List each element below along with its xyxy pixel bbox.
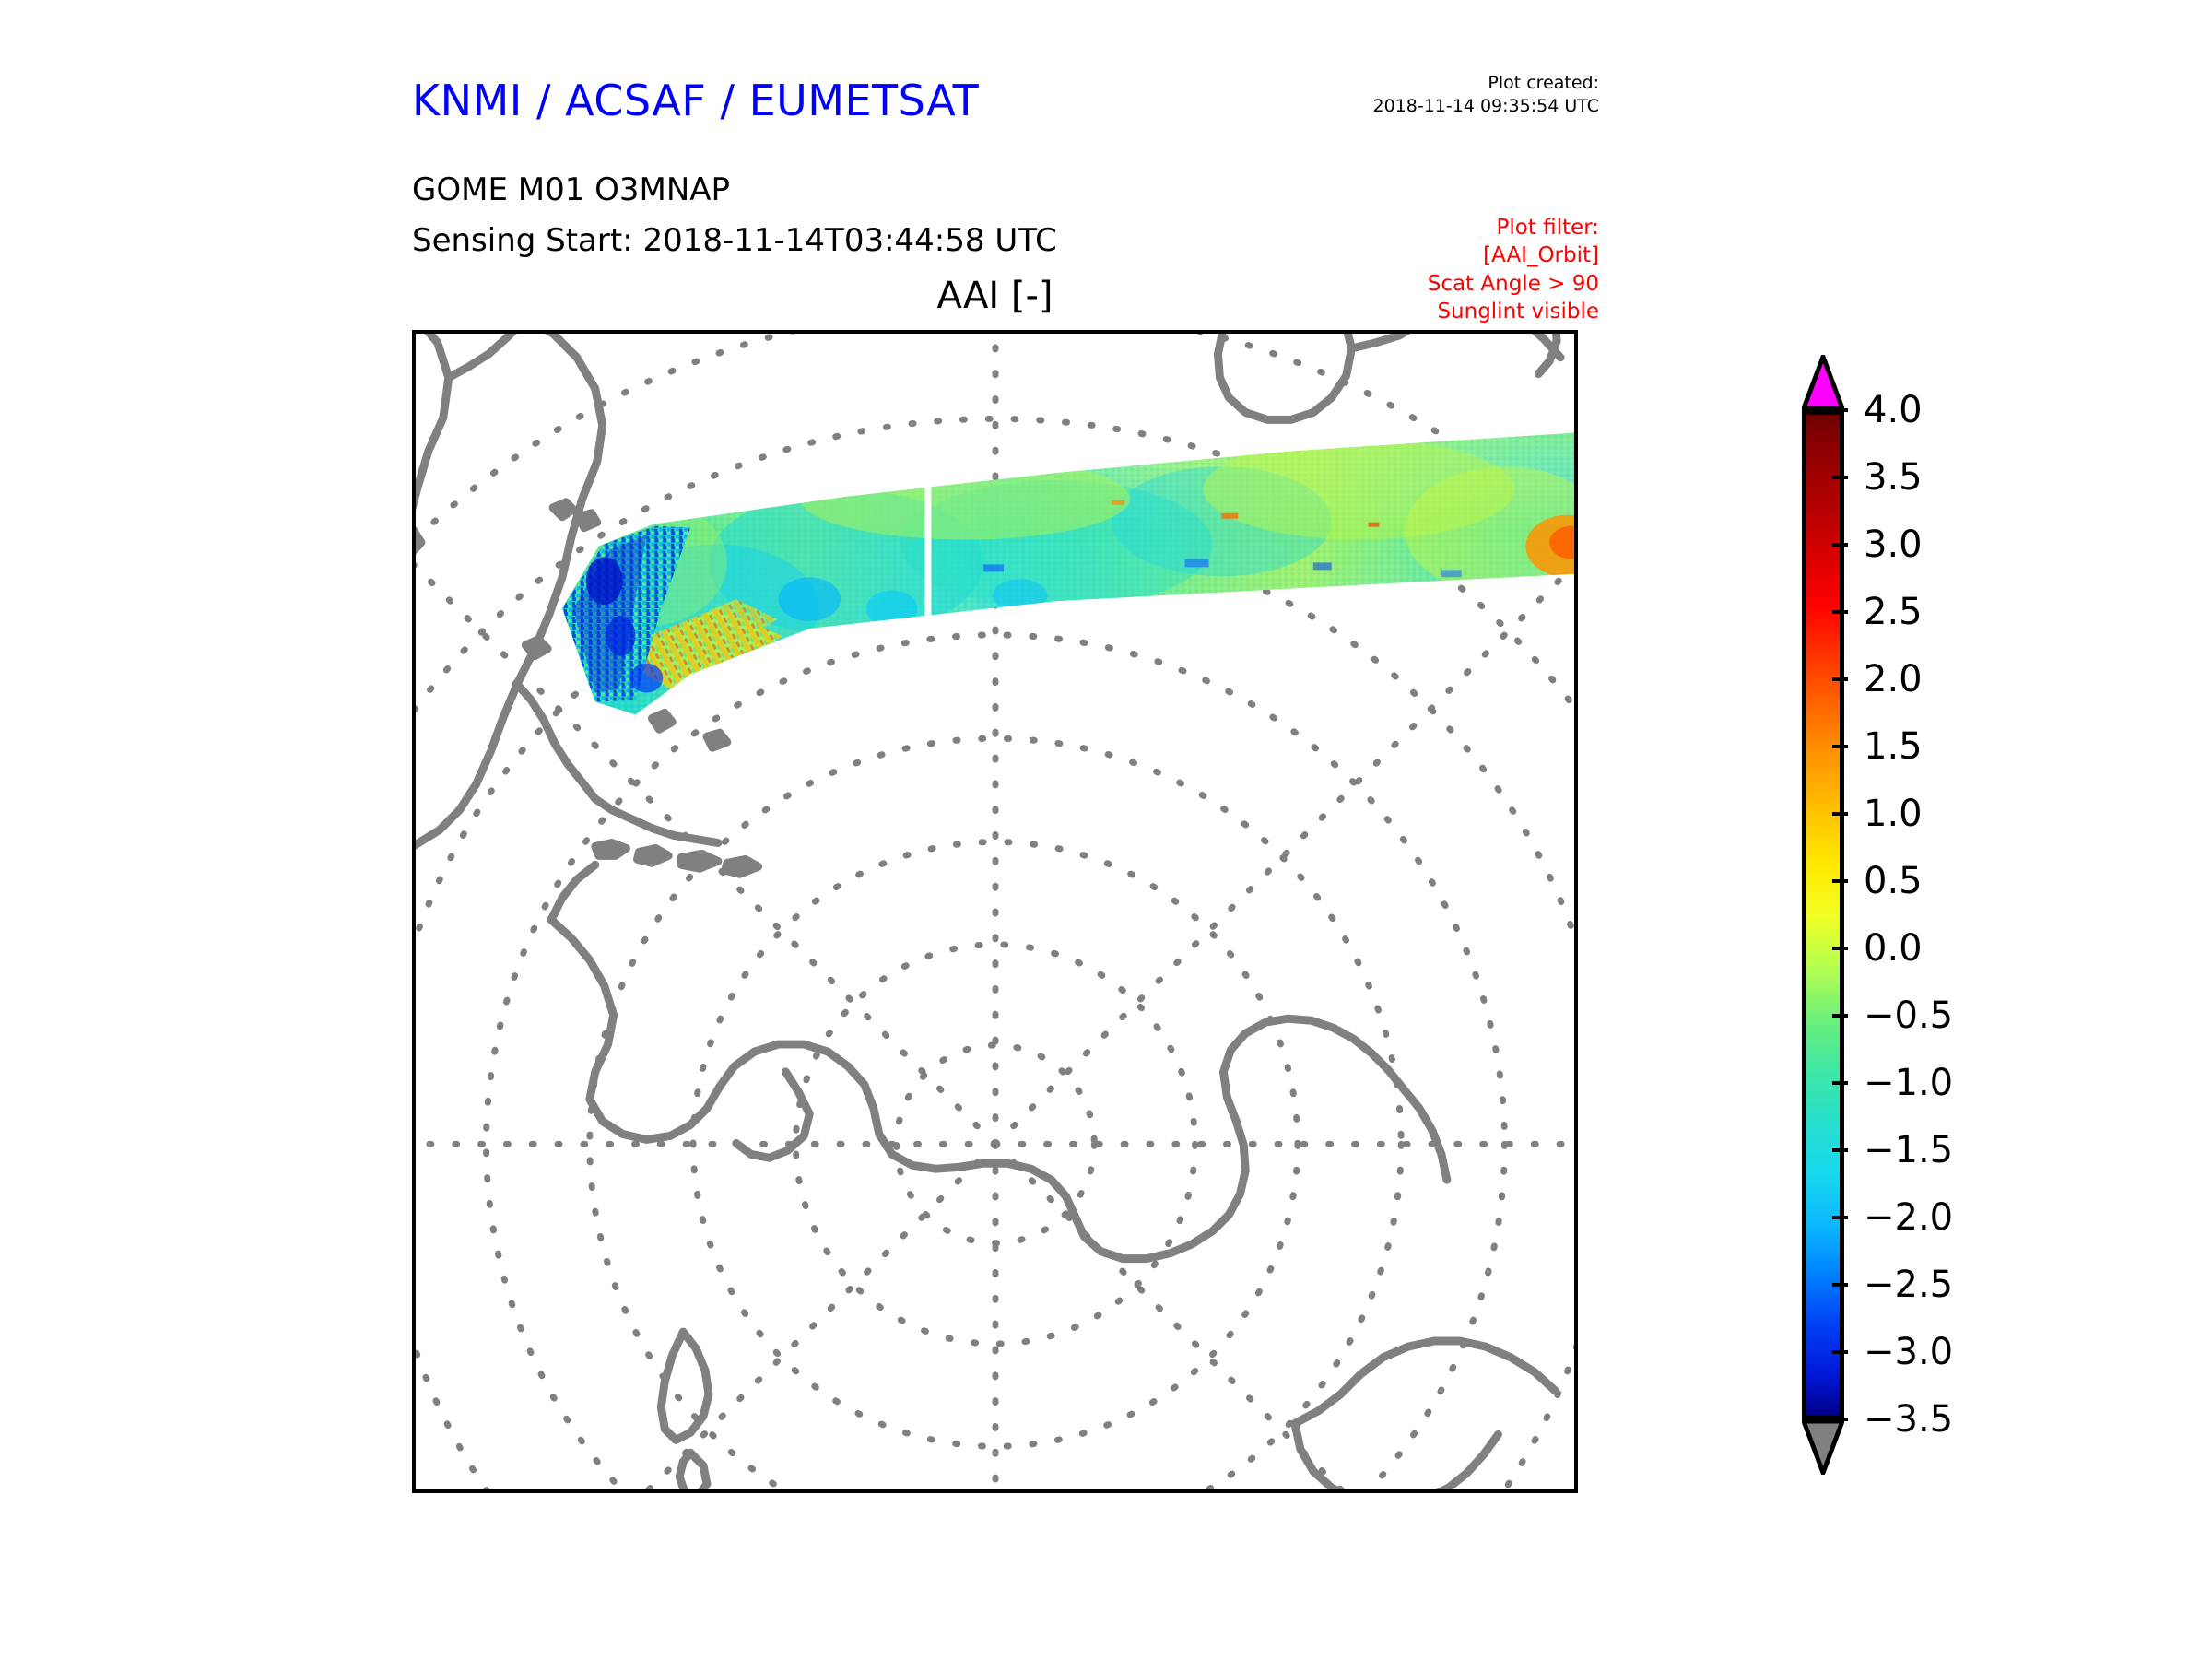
colorbar-tick-mark [1832,812,1848,816]
colorbar-tick-label: 1.5 [1864,728,1923,765]
colorbar-tick-label: −2.0 [1864,1199,1953,1236]
organisation-title: KNMI / ACSAF / EUMETSAT [412,76,979,125]
colorbar[interactable]: 4.03.53.02.52.01.51.00.50.0−0.5−1.0−1.5−… [1797,355,2184,1475]
colorbar-tick-label: 2.0 [1864,661,1923,698]
colorbar-tick-mark [1832,1283,1848,1287]
plot-created-label: Plot created: [1295,72,1599,95]
coastline-south-america-north [416,334,449,523]
colorbar-tick-mark [1832,1014,1848,1018]
swath-data-gap [924,443,931,718]
map-panel[interactable] [412,330,1578,1493]
colorbar-tick-mark [1832,1350,1848,1354]
polar-stereographic-map [416,334,1574,1489]
colorbar-tick-mark [1832,610,1848,614]
colorbar-tick-label: −3.0 [1864,1334,1953,1371]
colorbar-tick-mark [1832,1216,1848,1219]
colorbar-tick-mark [1832,677,1848,681]
colorbar-tick-mark [1832,1148,1848,1152]
colorbar-tick-label: −1.0 [1864,1065,1953,1101]
plot-filter-name: [AAI_Orbit] [1295,241,1599,269]
colorbar-tick-label: 4.0 [1864,392,1923,429]
colorbar-tick-mark [1832,947,1848,950]
colorbar-tick-mark [1832,879,1848,883]
colorbar-tick-label: 0.5 [1864,863,1923,900]
plot-filter-label: Plot filter: [1295,214,1599,241]
plot-created-timestamp: 2018-11-14 09:35:54 UTC [1295,95,1599,118]
sensing-start: Sensing Start: 2018-11-14T03:44:58 UTC [412,222,1057,259]
colorbar-tick-mark [1832,745,1848,748]
product-name: GOME M01 O3MNAP [412,171,730,208]
colorbar-tick-mark [1832,1418,1848,1421]
colorbar-tick-label: −0.5 [1864,997,1953,1034]
colorbar-tick-label: 3.5 [1864,459,1923,496]
colorbar-tick-mark [1832,408,1848,412]
colorbar-tick-mark [1832,476,1848,479]
colorbar-tick-mark [1832,543,1848,547]
colorbar-tick-label: 2.5 [1864,594,1923,630]
colorbar-tick-label: −2.5 [1864,1266,1953,1303]
colorbar-ticks: 4.03.53.02.52.01.51.00.50.0−0.5−1.0−1.5−… [1797,355,2184,1475]
plot-title: AAI [-] [412,275,1578,317]
colorbar-tick-label: 0.0 [1864,930,1923,967]
colorbar-tick-label: −3.5 [1864,1401,1953,1438]
plot-created-block: Plot created: 2018-11-14 09:35:54 UTC [1295,72,1599,118]
aai-swath [553,425,1574,764]
colorbar-tick-label: −1.5 [1864,1132,1953,1169]
colorbar-tick-label: 1.0 [1864,795,1923,832]
colorbar-tick-label: 3.0 [1864,526,1923,563]
colorbar-tick-mark [1832,1081,1848,1085]
